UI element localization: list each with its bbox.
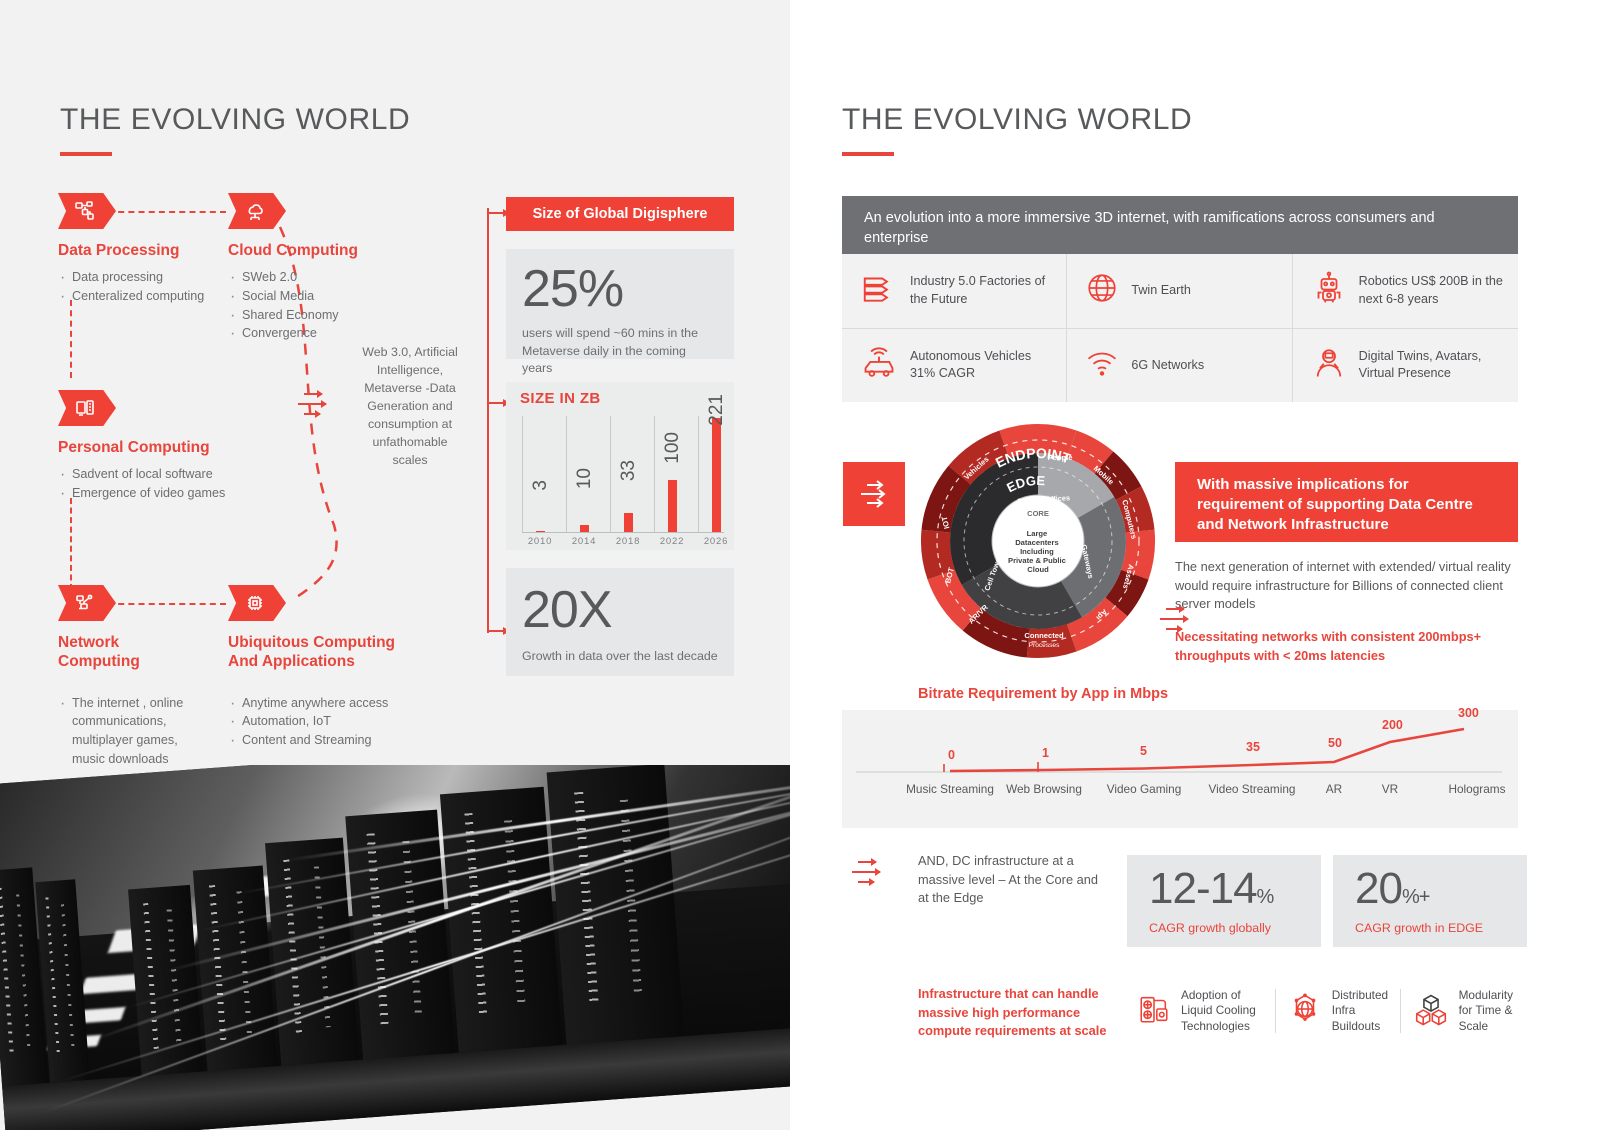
network-computing-icon — [58, 585, 116, 621]
infra-note: Infrastructure that can handle massive h… — [918, 985, 1128, 1041]
point-value: 50 — [1328, 736, 1342, 750]
cagr-edge-card: 20%+ CAGR growth in EDGE — [1333, 855, 1527, 947]
bar-2010 — [536, 531, 545, 532]
feature-label: Robotics US$ 200B in the next 6-8 years — [1359, 273, 1508, 308]
axis-tick: 2022 — [650, 536, 694, 547]
bullet: Emergence of video games — [58, 484, 273, 503]
point-value: 0 — [948, 748, 955, 762]
feature-label: Twin Earth — [1131, 282, 1191, 299]
bullet: Convergence — [228, 324, 403, 343]
node-personal-computing: Personal Computing Sadvent of local soft… — [58, 390, 273, 503]
point-value: 200 — [1382, 718, 1403, 732]
banner-text: An evolution into a more immersive 3D in… — [842, 196, 1518, 254]
node-title: Personal Computing — [58, 438, 273, 457]
stat-value: 20X — [522, 584, 718, 636]
flow-arrows-icon — [852, 858, 886, 888]
flow-arrow-badge — [843, 462, 905, 526]
node-title: Ubiquitous Computing And Applications — [228, 633, 418, 672]
title-underline — [842, 152, 894, 156]
bitrate-chart: 0 1 5 35 50 200 300 Music Streaming Web … — [842, 710, 1518, 828]
infra-label: Adoption of Liquid Cooling Technologies — [1181, 988, 1263, 1035]
personal-computing-icon — [58, 390, 116, 426]
datacenter-photo — [0, 765, 790, 1130]
bullet: Anytime anywhere access — [228, 694, 428, 713]
wifi-icon — [1085, 346, 1119, 385]
point-value: 300 — [1458, 706, 1479, 720]
axis-tick: Web Browsing — [999, 782, 1089, 797]
title-underline — [60, 152, 112, 156]
feature-twin-earth: Twin Earth — [1067, 254, 1292, 329]
bullet: Shared Economy — [228, 306, 403, 325]
feature-digital-twins: Digital Twins, Avatars, Virtual Presence — [1293, 329, 1518, 403]
bullet: The internet , online communications, mu… — [58, 694, 208, 769]
ubiquitous-computing-icon — [228, 585, 286, 621]
ring-seg-people: People — [1048, 453, 1073, 462]
cagr-unit: % — [1257, 886, 1274, 908]
modular-cubes-icon — [1413, 992, 1449, 1031]
digisphere-panel-title: Size of Global Digisphere — [506, 197, 734, 231]
axis-tick: Video Gaming — [1099, 782, 1189, 797]
axis-tick: Music Streaming — [905, 782, 995, 797]
infra-item-modularity: Modularity for Time & Scale — [1401, 988, 1525, 1035]
feature-label: Autonomous Vehicles 31% CAGR — [910, 348, 1056, 383]
infra-item-liquid-cooling: Adoption of Liquid Cooling Technologies — [1125, 988, 1275, 1035]
page-title: THE EVOLVING WORLD — [60, 103, 410, 137]
cagr-caption: CAGR growth in EDGE — [1355, 921, 1527, 935]
cagr-global-card: 12-14% CAGR growth globally — [1127, 855, 1321, 947]
point-value: 1 — [1042, 746, 1049, 760]
cagr-value: 20%+ — [1355, 867, 1527, 911]
bar-2026 — [712, 418, 721, 532]
axis-tick: 2010 — [518, 536, 562, 547]
cloud-computing-icon — [228, 193, 286, 229]
axis-tick: 2014 — [562, 536, 606, 547]
globe-icon — [1085, 271, 1119, 310]
size-in-zb-chart: SIZE IN ZB 3 10 33 100 221 2010 2014 201… — [506, 382, 734, 550]
feature-industry-5: Industry 5.0 Factories of the Future — [842, 254, 1067, 329]
bullet: Automation, IoT — [228, 712, 428, 731]
node-title: Network Computing — [58, 633, 198, 672]
autonomous-vehicle-icon — [860, 344, 898, 387]
cagr-number: 20 — [1355, 864, 1402, 913]
flow-arrows-icon — [298, 390, 332, 420]
cagr-caption: CAGR growth globally — [1149, 921, 1321, 935]
point-value: 35 — [1246, 740, 1260, 754]
bar-value: 33 — [618, 460, 640, 481]
infra-label: Distributed Infra Buildouts — [1332, 988, 1388, 1035]
stat-caption: users will spend ~60 mins in the Metaver… — [522, 325, 718, 378]
feature-6g-networks: 6G Networks — [1067, 329, 1292, 403]
feature-label: Industry 5.0 Factories of the Future — [910, 273, 1056, 308]
connector-pc-to-net — [70, 498, 72, 590]
dc-note: AND, DC infrastructure at a massive leve… — [918, 852, 1108, 908]
robot-icon — [1311, 270, 1347, 311]
feature-label: 6G Networks — [1131, 357, 1204, 374]
node-network-computing: Network Computing The internet , online … — [58, 585, 208, 768]
cagr-value: 12-14% — [1149, 867, 1321, 911]
axis-tick: Holograms — [1432, 782, 1522, 797]
stat-caption: Growth in data over the last decade — [522, 648, 718, 666]
feature-robotics: Robotics US$ 200B in the next 6-8 years — [1293, 254, 1518, 329]
bullet: Sadvent of local software — [58, 465, 273, 484]
ring-inner-label: CORE — [1027, 509, 1049, 518]
connector-dp-to-pc — [70, 300, 72, 378]
ring-seg-connected: Connected — [1024, 631, 1064, 640]
bar-value: 221 — [706, 394, 728, 426]
endpoint-edge-core-ring: ENDPOINT EDGE CORE Large Datacenters Inc… — [908, 410, 1168, 672]
body-text: The next generation of internet with ext… — [1175, 558, 1515, 614]
factory-icon — [860, 269, 898, 312]
node-cloud-computing: Cloud Computing SWeb 2.0 Social Media Sh… — [228, 193, 403, 343]
infra-label: Modularity for Time & Scale — [1459, 988, 1513, 1035]
left-page: THE EVOLVING WORLD Data Processing Data … — [0, 0, 790, 1130]
bar-value: 100 — [662, 432, 684, 464]
axis-tick: 2026 — [694, 536, 738, 547]
feature-grid: Industry 5.0 Factories of the Future Twi… — [842, 254, 1518, 402]
liquid-cooling-icon — [1137, 992, 1171, 1031]
axis-tick: 2018 — [606, 536, 650, 547]
stat-20x-card: 20X Growth in data over the last decade — [506, 568, 734, 676]
stat-25-percent-card: 25% users will spend ~60 mins in the Met… — [506, 249, 734, 359]
chart-title: SIZE IN ZB — [520, 390, 601, 407]
infra-items-row: Adoption of Liquid Cooling Technologies … — [1125, 980, 1525, 1042]
stat-value: 25% — [522, 263, 718, 315]
page-title: THE EVOLVING WORLD — [842, 103, 1192, 137]
bullet: Content and Streaming — [228, 731, 428, 750]
bullet: Social Media — [228, 287, 403, 306]
implications-block: With massive implications for requiremen… — [1175, 462, 1518, 542]
data-processing-icon — [58, 193, 116, 229]
feature-label: Digital Twins, Avatars, Virtual Presence — [1359, 348, 1508, 383]
node-ubiquitous-computing: Ubiquitous Computing And Applications An… — [228, 585, 428, 750]
bar-2018 — [624, 513, 633, 532]
bar-value: 10 — [574, 468, 596, 489]
bar-2022 — [668, 480, 677, 532]
panel-arrow-spine-2 — [487, 402, 489, 632]
cagr-number: 12-14 — [1149, 864, 1257, 913]
avatar-icon — [1311, 345, 1347, 386]
feature-autonomous-vehicles: Autonomous Vehicles 31% CAGR — [842, 329, 1067, 403]
infra-item-distributed: Distributed Infra Buildouts — [1276, 988, 1400, 1035]
chart-title: Bitrate Requirement by App in Mbps — [918, 686, 1168, 702]
axis-tick: Video Streaming — [1207, 782, 1297, 797]
right-page: THE EVOLVING WORLD An evolution into a m… — [790, 0, 1600, 1130]
mid-note: Web 3.0, Artificial Intelligence, Metave… — [355, 344, 465, 470]
point-value: 5 — [1140, 744, 1147, 758]
cagr-unit: %+ — [1402, 886, 1429, 908]
flow-arrows-icon — [1160, 605, 1194, 635]
bar-2014 — [580, 525, 589, 532]
bar-value: 3 — [530, 480, 552, 491]
red-note: Necessitating networks with consistent 2… — [1175, 628, 1505, 665]
bullet: SWeb 2.0 — [228, 268, 403, 287]
distributed-network-icon — [1288, 992, 1322, 1031]
ring-seg-processes: Processes — [1029, 642, 1060, 649]
axis-tick: VR — [1345, 782, 1435, 797]
node-title: Cloud Computing — [228, 241, 403, 260]
